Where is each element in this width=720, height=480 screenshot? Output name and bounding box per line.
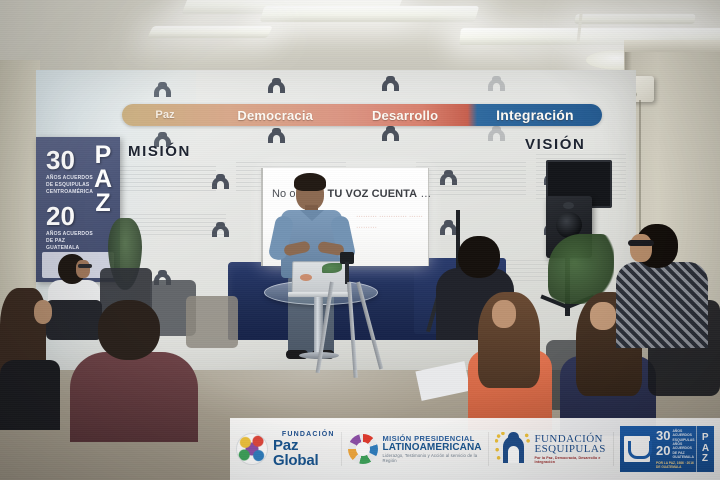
esquipulas-tagline: Por la Paz, Democracia, Desarrollo e Int… [535,457,608,464]
rollup-number-20: 20 [46,203,75,229]
w-monogram-icon [620,426,654,472]
slide-subtext: ……… ………… …… ……… [356,210,426,232]
tripod-neck [345,262,349,284]
laptop-base [288,292,350,297]
globe-people-icon [236,433,268,465]
laptop-sticker [300,274,312,281]
mision-tagline: Liderazgo, Testimonio y Acción al servic… [383,454,482,463]
rollup-caption-20: AÑOS ACUERDOS DE PAZ GUATEMALA [46,231,100,251]
presenter-hair [294,173,326,191]
attendee-left-glasses-lower [46,300,102,340]
laptop-sticker [322,263,342,273]
sponsor-logo-bar: FUNDACIÓN Paz Global MISIÓN PRESIDENCIAL… [230,418,720,480]
esquipulas-line2: ESQUIPULAS [535,444,608,455]
attendee-plaid-glasses [616,262,708,348]
sponsor-fundacion-esquipulas: FUNDACIÓN ESQUIPULAS Por la Paz, Democra… [489,418,614,480]
fluorescent-tube-light [574,14,695,24]
slide-headline: No olvides TU VOZ CUENTA … [272,188,422,200]
attendee-left-glasses-face [76,260,90,278]
value-segment-desarrollo: Desarrollo [342,108,468,123]
value-segment-democracia: Democracia [208,108,342,123]
color-ring-icon [348,434,378,464]
fluorescent-tube-light [147,26,273,38]
paz-30-20-block: 30 AÑOS ACUERDOS ESQUIPULAS 20 AÑOS ACUE… [620,426,714,472]
rollup-number-30: 30 [46,147,75,173]
paz-block-number-20: 20 [656,444,670,457]
fluorescent-tube-light [260,6,480,22]
paz-block-number-30: 30 [656,429,670,442]
paz-block-vertical-word: PAZ [696,426,714,472]
value-segment-paz: Paz [122,109,208,121]
rollup-vertical-paz: PAZ [89,143,117,215]
slide-headline-suffix: … [420,188,431,200]
paz-block-badge: POR LA PAZ, 1986 · 2016 DE GUATEMALA [656,461,696,469]
attendee-navy-top-face [590,302,616,330]
eyeglasses-icon [78,264,92,268]
eyeglasses-icon [628,240,654,246]
photo-scene: Paz Democracia Desarrollo Integración MI… [0,0,720,480]
vision-heading: VISIÓN [525,136,585,153]
slide-headline-highlight: TU VOZ CUENTA [328,188,418,200]
attendee-far-left-face [34,300,52,324]
paz-block-caption-20: AÑOS ACUERDOS DE PAZ GUATEMALA [672,442,696,459]
attendee-orange-top-face [492,300,516,328]
values-gradient-bar: Paz Democracia Desarrollo Integración [122,104,602,126]
attendee-far-left [0,360,60,430]
paz-block-caption-30: AÑOS ACUERDOS ESQUIPULAS [672,429,696,442]
mision-heading: MISIÓN [128,143,191,160]
speaker-tweeter [563,202,574,209]
sponsor-paz-global: FUNDACIÓN Paz Global [230,418,341,480]
attendee-front-left [70,352,198,442]
esquipulas-arch-stars-icon [495,432,531,466]
right-wall-trim [624,40,720,52]
chair [186,296,238,348]
attendee-plaid-glasses-face [630,234,652,262]
attendee-center-right-head [458,236,500,278]
value-segment-integracion: Integración [468,107,602,123]
mision-line2: LATINOAMERICANA [383,443,482,454]
attendee-front-left-head [98,300,160,360]
sponsor-mision-presidencial: MISIÓN PRESIDENCIAL LATINOAMERICANA Lide… [342,418,488,480]
paz-global-line2: Paz Global [273,438,335,468]
sponsor-paz-30-20: 30 AÑOS ACUERDOS ESQUIPULAS 20 AÑOS ACUE… [614,418,720,480]
